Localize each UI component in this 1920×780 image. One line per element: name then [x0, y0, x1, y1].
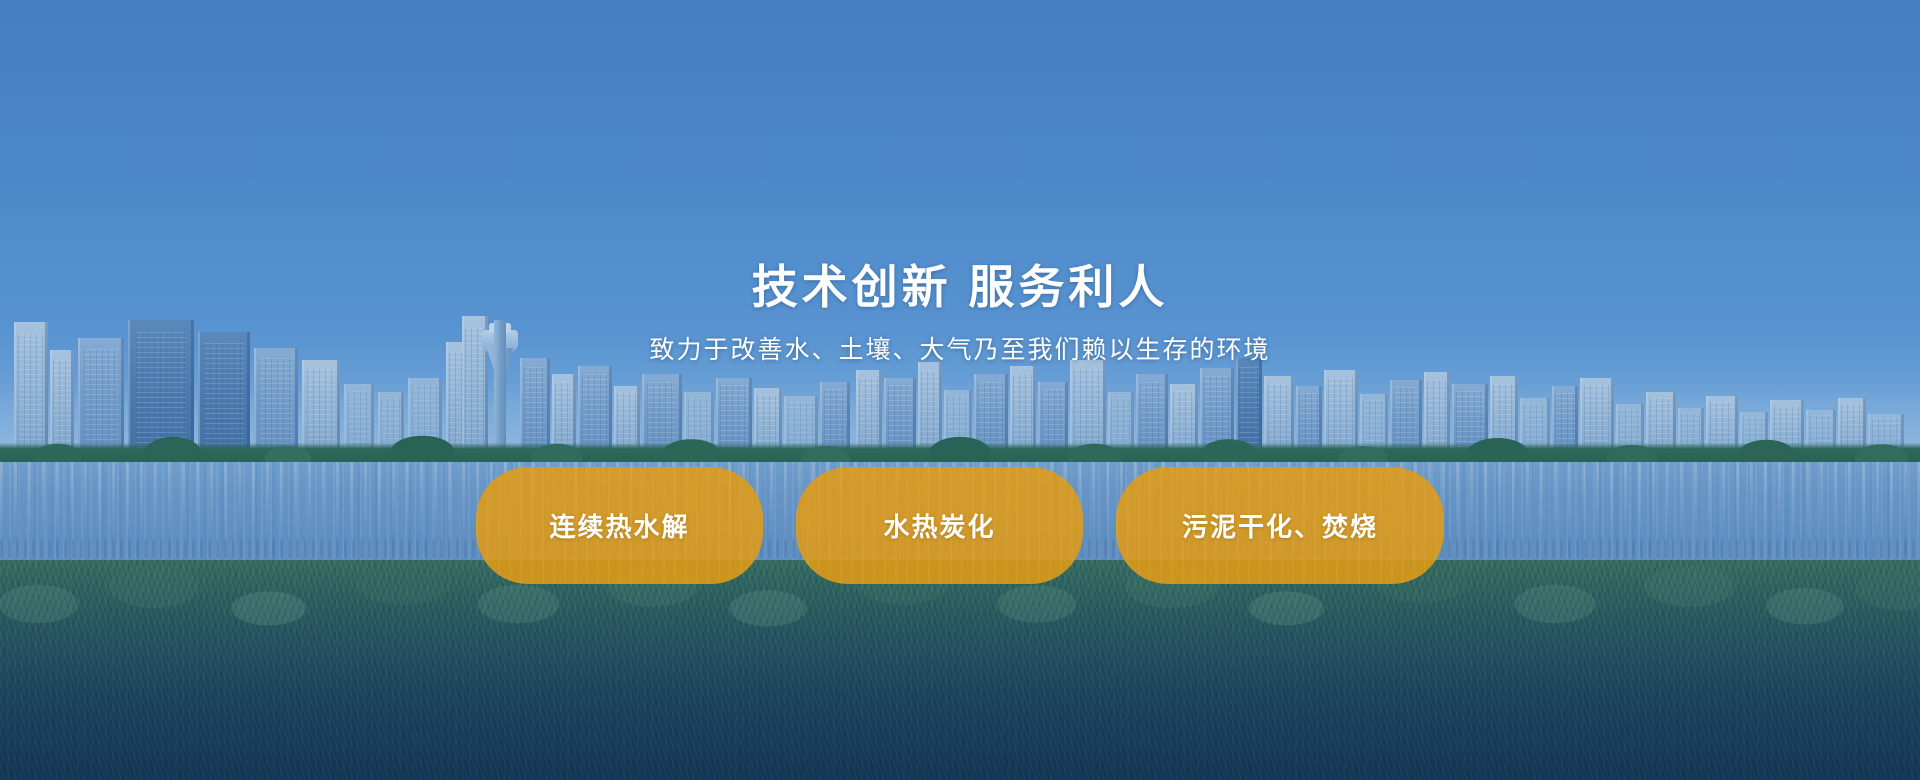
cta-button-label: 连续热水解 — [549, 507, 689, 544]
cta-button-sludge-drying-incineration[interactable]: 污泥干化、焚烧 — [1116, 467, 1444, 584]
cta-button-row: 连续热水解 水热炭化 污泥干化、焚烧 — [0, 467, 1920, 584]
cta-button-hydrothermal-carbonization[interactable]: 水热炭化 — [796, 467, 1083, 584]
cta-button-continuous-thermal-hydrolysis[interactable]: 连续热水解 — [476, 467, 763, 584]
cta-button-label: 水热炭化 — [883, 507, 995, 544]
hero-banner: 技术创新 服务利人 致力于改善水、土壤、大气乃至我们赖以生存的环境 连续热水解 … — [0, 0, 1920, 780]
cta-button-label: 污泥干化、焚烧 — [1182, 507, 1378, 544]
foreground-vegetation — [0, 560, 1920, 780]
